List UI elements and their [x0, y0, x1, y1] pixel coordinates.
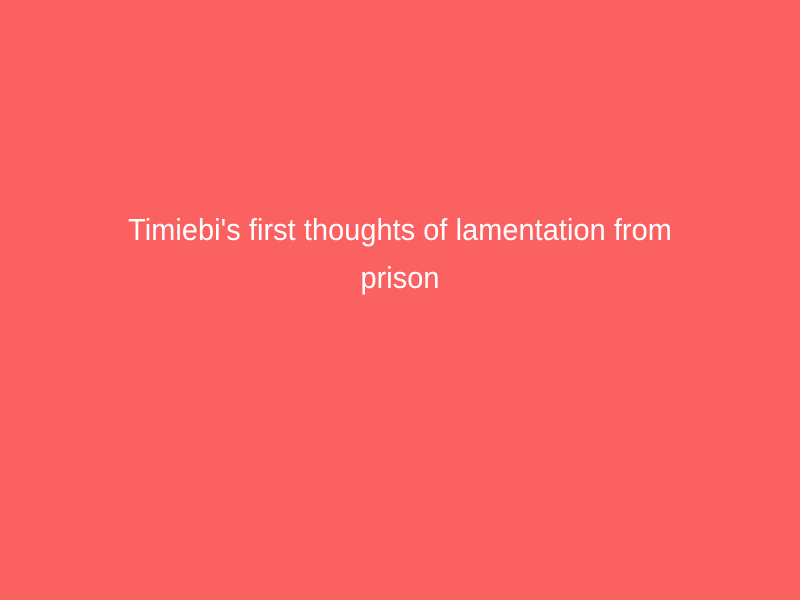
title-block: Timiebi's first thoughts of lamentation …	[0, 0, 800, 600]
title-card: Timiebi's first thoughts of lamentation …	[0, 0, 800, 600]
page-title: Timiebi's first thoughts of lamentation …	[93, 206, 707, 302]
